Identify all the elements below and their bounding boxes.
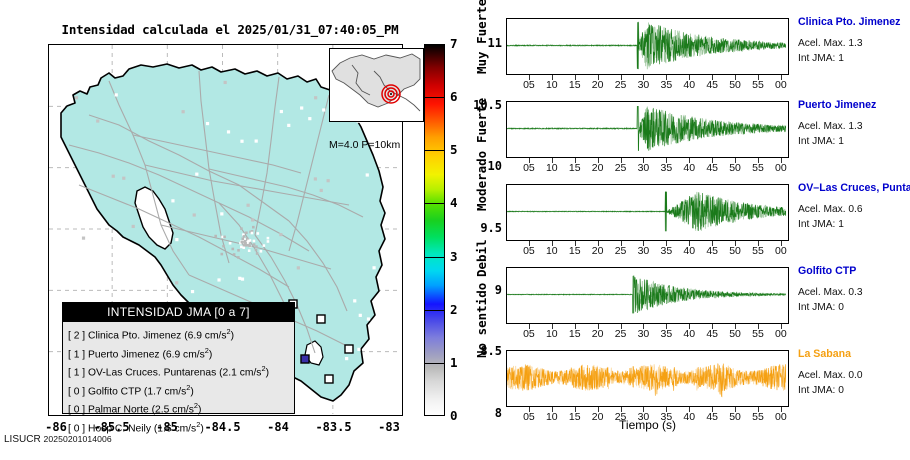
- colorbar-label-4: No sentido: [474, 283, 489, 358]
- city-dot: [308, 117, 311, 120]
- legend-accel: (6.9 cm/s: [184, 330, 226, 341]
- trace-time-axis: 051015202530354045505500: [506, 241, 789, 261]
- city-dot: [221, 253, 224, 256]
- city-dot: [237, 249, 240, 252]
- legend-station: Hosp C. Neily: [85, 423, 154, 434]
- city-dot: [353, 299, 356, 302]
- colorbar-tick: [424, 363, 445, 364]
- legend-accel-close: ): [198, 404, 201, 415]
- trace-time-axis: 051015202530354045505500: [506, 158, 789, 178]
- city-dot: [112, 175, 115, 178]
- station-peak-accel: Acel. Max. 0.6: [798, 204, 863, 215]
- map-ytick-2: 10: [442, 159, 502, 173]
- colorbar-tick: [424, 97, 445, 98]
- station-jma-intensity: Int JMA: 0: [798, 302, 844, 313]
- city-dot: [175, 238, 178, 241]
- city-dot: [224, 81, 227, 84]
- inset-locator-map: [329, 48, 424, 122]
- station-name[interactable]: OV–Las Cruces, Puntar: [798, 182, 910, 194]
- colorbar-value-0: 0: [450, 408, 458, 423]
- waveform-svg: [507, 351, 786, 404]
- city-dot: [238, 277, 241, 280]
- city-dot: [245, 231, 248, 234]
- waveform-svg: [507, 268, 786, 321]
- map-xtick-6: -83: [359, 420, 419, 434]
- station-name[interactable]: La Sabana: [798, 348, 851, 360]
- station-marker-3[interactable]: [345, 345, 353, 353]
- inset-map-svg: [330, 49, 422, 120]
- city-dot: [243, 235, 246, 238]
- colorbar-value-6: 6: [450, 89, 458, 104]
- city-dot: [233, 253, 236, 256]
- legend-accel-close: ): [266, 367, 269, 378]
- city-dot: [193, 213, 196, 216]
- legend-accel-close: ): [231, 330, 234, 341]
- legend-level: [ 0 ]: [68, 386, 85, 397]
- city-dot: [300, 106, 303, 109]
- city-dot: [314, 96, 317, 99]
- legend-accel-close: ): [190, 386, 193, 397]
- footer-agency: LISUCR: [4, 434, 41, 445]
- colorbar-tick: [424, 310, 445, 311]
- trace-plot-area[interactable]: [506, 18, 789, 75]
- legend-accel: (1.7 cm/s: [144, 386, 186, 397]
- city-dot: [75, 96, 78, 99]
- city-dot: [267, 240, 270, 243]
- city-dot: [240, 140, 243, 143]
- waveform-svg: [507, 19, 786, 72]
- waveform-svg: [507, 185, 786, 238]
- city-dot: [287, 124, 290, 127]
- city-dot: [253, 243, 256, 246]
- station-jma-intensity: Int JMA: 1: [798, 136, 844, 147]
- legend-header: INTENSIDAD JMA [0 a 7]: [63, 303, 294, 322]
- city-dot: [242, 237, 245, 240]
- seismogram-trace-block: 051015202530354045505500Clinica Pto. Jim…: [500, 18, 910, 101]
- city-dot: [263, 244, 266, 247]
- seismogram-trace-block: 051015202530354045505500Golfito CTPAcel.…: [500, 267, 910, 350]
- legend-level: [ 0 ]: [68, 423, 85, 434]
- city-dot: [267, 237, 270, 240]
- legend-station: Golfito CTP: [85, 386, 144, 397]
- legend-row: [ 2 ] Clinica Pto. Jimenez (6.9 cm/s2): [68, 325, 294, 344]
- legend-level: [ 1 ]: [68, 367, 85, 378]
- station-peak-accel: Acel. Max. 1.3: [798, 121, 863, 132]
- station-peak-accel: Acel. Max. 1.3: [798, 38, 863, 49]
- colorbar-tick: [424, 150, 445, 151]
- city-dot: [241, 278, 244, 281]
- colorbar-tick: [424, 203, 445, 204]
- city-dot: [171, 199, 174, 202]
- city-dot: [252, 226, 255, 229]
- city-dot: [115, 93, 118, 96]
- colorbar-label-2: Moderado: [474, 151, 489, 211]
- time-axis-label: Tiempo (s): [506, 418, 789, 432]
- legend-level: [ 2 ]: [68, 330, 85, 341]
- city-dot: [260, 250, 263, 253]
- legend-level: [ 0 ]: [68, 404, 85, 415]
- city-dot: [217, 278, 220, 281]
- station-marker-4[interactable]: [301, 355, 309, 363]
- city-dot: [96, 119, 99, 122]
- legend-accel-close: ): [209, 349, 212, 360]
- city-dot: [237, 256, 240, 259]
- footer-code: 20250201014006: [43, 434, 111, 444]
- city-dot: [256, 252, 259, 255]
- colorbar-value-2: 2: [450, 302, 458, 317]
- colorbar-value-7: 7: [450, 36, 458, 51]
- intensity-colorbar: [424, 44, 445, 416]
- city-dot: [251, 232, 254, 235]
- station-name[interactable]: Puerto Jimenez: [798, 99, 876, 111]
- city-dot: [126, 246, 129, 249]
- city-dot: [182, 110, 185, 113]
- city-dot: [251, 218, 254, 221]
- trace-time-axis: 051015202530354045505500: [506, 324, 789, 344]
- station-peak-accel: Acel. Max. 0.3: [798, 287, 863, 298]
- colorbar-label-1: Fuerte: [474, 97, 489, 142]
- station-peak-accel: Acel. Max. 0.0: [798, 370, 863, 381]
- city-dot: [248, 245, 251, 248]
- city-dot: [297, 266, 300, 269]
- city-dot: [229, 242, 232, 245]
- legend-accel-close: ): [200, 423, 203, 434]
- city-dot: [223, 236, 226, 239]
- legend-rows: [ 2 ] Clinica Pto. Jimenez (6.9 cm/s2)[ …: [63, 322, 294, 436]
- city-dot: [122, 177, 125, 180]
- station-jma-intensity: Int JMA: 1: [798, 53, 844, 64]
- legend-row: [ 1 ] Puerto Jimenez (6.9 cm/s2): [68, 344, 294, 363]
- colorbar-tick: [424, 257, 445, 258]
- map-xtick-5: -83.5: [304, 420, 364, 434]
- time-tick-label: 00: [768, 245, 794, 257]
- city-dot: [220, 212, 223, 215]
- station-marker-1[interactable]: [317, 315, 325, 323]
- intensity-legend: INTENSIDAD JMA [0 a 7] [ 2 ] Clinica Pto…: [62, 302, 295, 414]
- city-dot: [240, 246, 243, 249]
- city-dot: [279, 233, 282, 236]
- city-dot: [247, 204, 250, 207]
- city-dot: [314, 177, 317, 180]
- seismogram-trace-block: 051015202530354045505500OV–Las Cruces, P…: [500, 184, 910, 267]
- time-tick-label: 00: [768, 162, 794, 174]
- city-dot: [280, 110, 283, 113]
- city-dot: [255, 249, 258, 252]
- colorbar-value-5: 5: [450, 142, 458, 157]
- city-dot: [257, 232, 260, 235]
- city-dot: [248, 249, 251, 252]
- legend-level: [ 1 ]: [68, 349, 85, 360]
- waveform-svg: [507, 102, 786, 155]
- colorbar-label-0: Muy Fuerte: [474, 0, 489, 74]
- seismogram-trace-block: 051015202530354045505500Puerto JimenezAc…: [500, 101, 910, 184]
- city-dot: [175, 281, 178, 284]
- city-dot: [244, 244, 247, 247]
- city-dot: [255, 245, 258, 248]
- map-ytick-3: 9.5: [442, 221, 502, 235]
- legend-accel: (2.5 cm/s: [152, 404, 194, 415]
- legend-row: [ 0 ] Golfito CTP (1.7 cm/s2): [68, 381, 294, 400]
- trace-plot-area[interactable]: [506, 101, 789, 158]
- time-tick-label: 00: [768, 328, 794, 340]
- station-name[interactable]: Golfito CTP: [798, 265, 856, 277]
- city-dot: [359, 314, 362, 317]
- station-name[interactable]: Clinica Pto. Jimenez: [798, 16, 900, 28]
- city-dot: [231, 248, 234, 251]
- map-ytick-4: 9: [442, 283, 502, 297]
- city-dot: [240, 227, 243, 230]
- colorbar-label-3: Debil: [474, 239, 489, 277]
- city-dot: [132, 225, 135, 228]
- city-dot: [366, 173, 369, 176]
- station-jma-intensity: Int JMA: 1: [798, 219, 844, 230]
- city-dot: [255, 139, 258, 142]
- legend-station: Puerto Jimenez: [85, 349, 162, 360]
- trace-plot-area[interactable]: [506, 267, 789, 324]
- city-dot: [327, 179, 330, 182]
- city-dot: [214, 235, 217, 238]
- city-dot: [372, 266, 375, 269]
- seismogram-panel: 051015202530354045505500Clinica Pto. Jim…: [500, 18, 910, 433]
- colorbar-value-1: 1: [450, 355, 458, 370]
- city-dot: [82, 237, 85, 240]
- trace-time-axis: 051015202530354045505500: [506, 75, 789, 95]
- city-dot: [191, 290, 194, 293]
- city-dot: [345, 357, 348, 360]
- city-dot: [195, 173, 198, 176]
- legend-station: Palmar Norte: [85, 404, 151, 415]
- city-dot: [206, 122, 209, 125]
- city-dot: [242, 246, 245, 249]
- trace-plot-area[interactable]: [506, 184, 789, 241]
- station-jma-intensity: Int JMA: 0: [798, 385, 844, 396]
- footer-credit: LISUCR 20250201014006: [4, 434, 112, 445]
- legend-accel: (2.1 cm/s: [219, 367, 261, 378]
- city-dot: [367, 317, 370, 320]
- city-dot: [357, 348, 360, 351]
- legend-accel: (6.9 cm/s: [162, 349, 204, 360]
- colorbar-value-3: 3: [450, 249, 458, 264]
- inset-caption: M=4.0 P=10km: [329, 139, 429, 151]
- station-marker-5[interactable]: [325, 375, 333, 383]
- city-dot: [322, 108, 325, 111]
- legend-accel: (1.6 cm/s: [154, 423, 196, 434]
- legend-row: [ 0 ] Palmar Norte (2.5 cm/s2): [68, 399, 294, 418]
- legend-row: [ 1 ] OV-Las Cruces. Puntarenas (2.1 cm/…: [68, 362, 294, 381]
- city-dot: [320, 189, 323, 192]
- time-tick-label: 00: [768, 79, 794, 91]
- city-dot: [253, 240, 256, 243]
- legend-station: Clinica Pto. Jimenez: [85, 330, 184, 341]
- city-dot: [227, 130, 230, 133]
- legend-station: OV-Las Cruces. Puntarenas: [85, 367, 219, 378]
- epicenter-marker: [382, 85, 400, 103]
- city-dot: [241, 241, 244, 244]
- city-dot: [222, 245, 225, 248]
- colorbar-value-4: 4: [450, 195, 458, 210]
- page-title: Intensidad calculada el 2025/01/31_07:40…: [0, 22, 460, 37]
- trace-plot-area[interactable]: [506, 350, 789, 407]
